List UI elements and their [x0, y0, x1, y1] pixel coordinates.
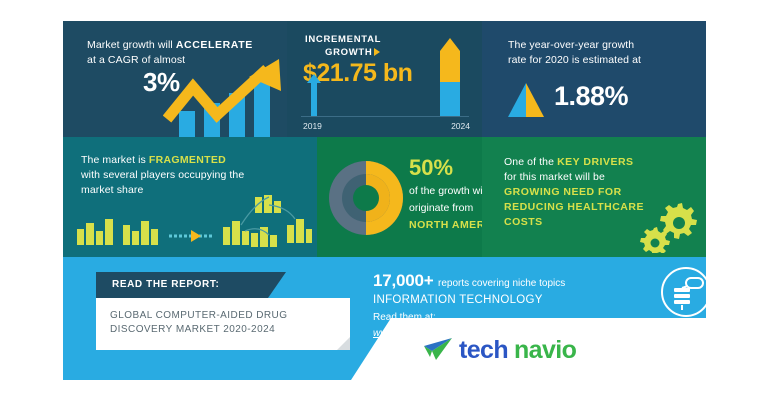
row-top-metrics: Market growth will ACCELERATE at a CAGR … — [63, 21, 706, 137]
north-america-label: NORTH AMERICA — [409, 219, 482, 231]
yoy-description: The year-over-year growth rate for 2020 … — [508, 38, 698, 68]
read-the-report-card[interactable]: READ THE REPORT: GLOBAL COMPUTER-AIDED D… — [96, 272, 350, 350]
report-title: GLOBAL COMPUTER-AIDED DRUG DISCOVERY MAR… — [110, 309, 336, 337]
panel-fragmented-market: The market is FRAGMENTED with several pl… — [63, 137, 317, 257]
row-footer: READ THE REPORT: GLOBAL COMPUTER-AIDED D… — [63, 257, 706, 380]
technavio-logo: technavio — [423, 334, 576, 366]
cagr-text-accelerate: ACCELERATE — [176, 39, 253, 51]
upward-trend-arrow-icon — [163, 57, 287, 133]
report-title-body: GLOBAL COMPUTER-AIDED DRUG DISCOVERY MAR… — [96, 298, 350, 350]
gears-icon — [638, 198, 698, 253]
paper-plane-icon — [423, 337, 453, 363]
panel-incremental-growth: INCREMENTAL GROWTH $21.75 bn 2019 2024 — [287, 21, 482, 137]
yoy-text-line1: The year-over-year growth — [508, 39, 634, 51]
logo-text-tech: tech — [459, 336, 508, 365]
stats-headline: 17,000+ reports covering niche topics — [373, 271, 623, 291]
read-the-report-label: READ THE REPORT: — [112, 279, 219, 290]
year-label-2024: 2024 — [451, 121, 470, 131]
yoy-value: 1.88% — [554, 81, 628, 112]
north-america-percent: 50% — [409, 155, 453, 181]
row-middle-insights: The market is FRAGMENTED with several pl… — [63, 137, 706, 257]
reports-count-suffix: reports covering niche topics — [438, 278, 565, 289]
incremental-title-line1: INCREMENTAL — [305, 34, 381, 45]
fragmented-text-line2: with several players occupying the — [81, 169, 244, 181]
report-category: INFORMATION TECHNOLOGY — [373, 294, 623, 306]
key-drivers-text-line2: for this market will be — [504, 171, 605, 183]
bar-arrow-2024 — [440, 38, 460, 116]
panel-key-drivers: One of the KEY DRIVERS for this market w… — [482, 137, 706, 257]
driver-line-3: COSTS — [504, 216, 543, 228]
cagr-text-pre: Market growth will — [87, 39, 176, 51]
fragmented-keyword: FRAGMENTED — [149, 154, 226, 166]
panel-north-america-share: 50% of the growth will originate from NO… — [317, 137, 482, 257]
donut-chart-icon — [329, 161, 403, 235]
driver-line-2: REDUCING HEALTHCARE — [504, 201, 644, 213]
reports-count: 17,000+ — [373, 271, 434, 290]
key-drivers-text-pre: One of the — [504, 156, 557, 168]
bar-arrow-2019 — [307, 74, 321, 116]
north-america-description: of the growth will originate from NORTH … — [409, 183, 482, 234]
report-title-line1: GLOBAL COMPUTER-AIDED DRUG — [110, 310, 287, 321]
read-the-report-tab: READ THE REPORT: — [96, 272, 268, 298]
axis-line — [301, 116, 469, 117]
year-label-2019: 2019 — [303, 121, 322, 131]
incremental-title-line2: GROWTH — [325, 47, 372, 58]
incremental-growth-title: INCREMENTAL GROWTH — [305, 33, 425, 59]
infographic-canvas: Market growth will ACCELERATE at a CAGR … — [63, 21, 706, 380]
panel-cagr: Market growth will ACCELERATE at a CAGR … — [63, 21, 287, 137]
cloud-data-icon — [660, 266, 706, 318]
triangle-growth-icon — [508, 83, 544, 117]
fragmented-text-pre: The market is — [81, 154, 149, 166]
key-drivers-keyword: KEY DRIVERS — [557, 156, 634, 168]
fifty-text-line1: of the growth will — [409, 185, 482, 197]
market-fragmentation-buildings-icon — [73, 195, 313, 251]
yoy-text-line2: rate for 2020 is estimated at — [508, 54, 641, 66]
report-title-line2: DISCOVERY MARKET 2020-2024 — [110, 324, 275, 335]
fragmented-description: The market is FRAGMENTED with several pl… — [81, 153, 306, 198]
logo-text-navio: navio — [514, 336, 576, 365]
panel-yoy-growth: The year-over-year growth rate for 2020 … — [482, 21, 706, 137]
driver-line-1: GROWING NEED FOR — [504, 186, 622, 198]
caret-right-icon — [374, 48, 380, 56]
fifty-text-line2: originate from — [409, 202, 473, 214]
